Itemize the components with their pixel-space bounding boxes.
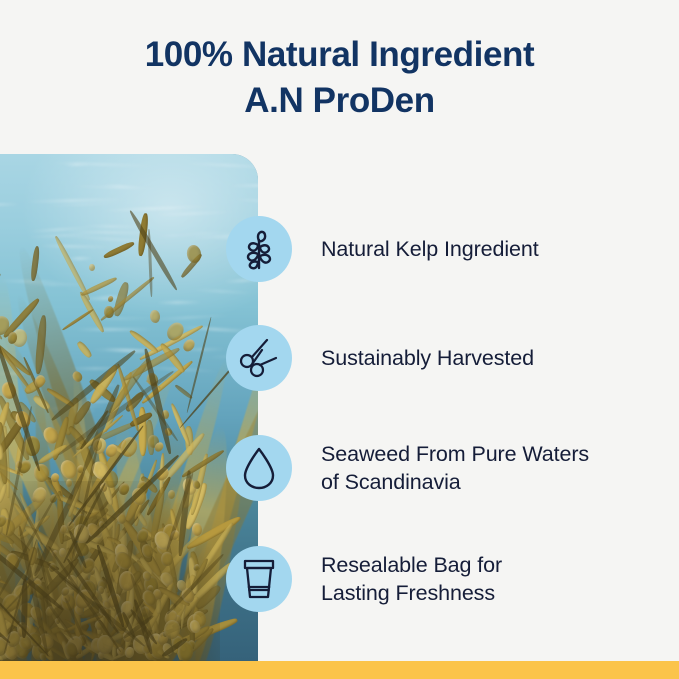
scissors-icon bbox=[226, 325, 292, 391]
feature-item-resealable-bag: Resealable Bag for Lasting Freshness bbox=[226, 546, 502, 612]
feature-item-sustainably-harvested: Sustainably Harvested bbox=[226, 325, 534, 391]
kelp-leaf-icon bbox=[226, 216, 292, 282]
bottom-accent-bar bbox=[0, 661, 679, 679]
feature-item-pure-waters: Seaweed From Pure Waters of Scandinavia bbox=[226, 435, 589, 501]
water-drop-icon bbox=[226, 435, 292, 501]
resealable-bag-icon bbox=[226, 546, 292, 612]
feature-list: Natural Kelp Ingredient Sustainably Harv… bbox=[0, 0, 679, 679]
feature-label: Natural Kelp Ingredient bbox=[321, 235, 539, 263]
product-feature-infographic: 100% Natural Ingredient A.N ProDen bbox=[0, 0, 679, 679]
feature-label: Seaweed From Pure Waters of Scandinavia bbox=[321, 440, 589, 496]
feature-label: Sustainably Harvested bbox=[321, 344, 534, 372]
feature-label: Resealable Bag for Lasting Freshness bbox=[321, 551, 502, 607]
feature-item-natural-kelp: Natural Kelp Ingredient bbox=[226, 216, 539, 282]
